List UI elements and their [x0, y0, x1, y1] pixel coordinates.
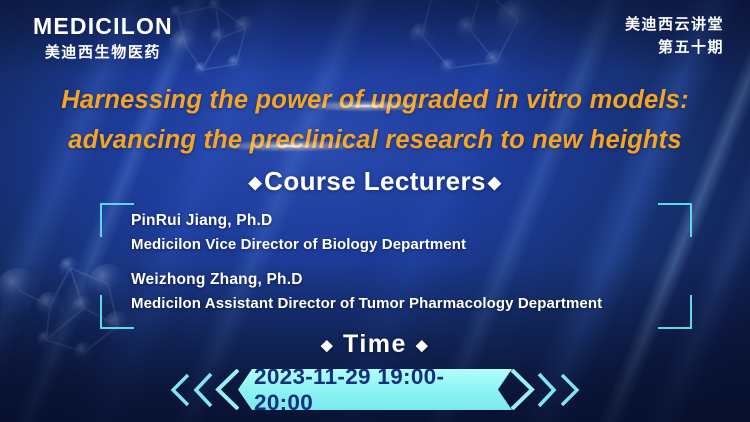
lecturer-entry: Weizhong Zhang, Ph.D Medicilon Assistant…: [131, 269, 602, 315]
chevron-left-icon: [191, 372, 214, 408]
chevron-left-icon: [168, 373, 191, 407]
molecule-icon: [392, 0, 562, 90]
schedule-ribbon: 2023-11-29 19:00-20:00: [168, 369, 582, 410]
lecturers-panel: PinRui Jiang, Ph.D Medicilon Vice Direct…: [100, 203, 692, 329]
chevron-right-icon: [536, 372, 559, 408]
section-heading-lecturers-label: Course Lecturers: [264, 166, 486, 196]
lecturer-entry: PinRui Jiang, Ph.D Medicilon Vice Direct…: [131, 210, 466, 256]
brand-logo-en: MEDICILON: [33, 14, 173, 39]
webinar-banner: MEDICILON 美迪西生物医药 美迪西云讲堂 第五十期 Harnessing…: [0, 0, 750, 422]
brand-logo-cn: 美迪西生物医药: [33, 41, 173, 62]
lecturer-name: PinRui Jiang, Ph.D: [131, 210, 466, 232]
lecturer-role: Medicilon Assistant Director of Tumor Ph…: [131, 293, 602, 315]
chevron-right-icon: [559, 373, 582, 407]
section-heading-lecturers: ◆Course Lecturers◆: [0, 166, 750, 197]
series-label: 美迪西云讲堂 第五十期: [625, 14, 724, 59]
chevron-right-group: [511, 369, 582, 410]
section-heading-time-label: Time: [343, 330, 407, 358]
diamond-icon: ◆: [249, 173, 262, 192]
chevron-right-icon: [511, 369, 536, 410]
diamond-icon: ◆: [416, 337, 429, 354]
section-heading-time: ◆Time◆: [0, 330, 750, 359]
chevron-left-group: [168, 369, 239, 410]
lecturer-name: Weizhong Zhang, Ph.D: [131, 269, 602, 291]
title-line-1: Harnessing the power of upgraded in vitr…: [0, 80, 750, 120]
chevron-left-icon: [214, 369, 239, 410]
title-line-2: advancing the preclinical research to ne…: [0, 120, 750, 160]
brand-logo: MEDICILON 美迪西生物医药: [33, 14, 173, 62]
series-episode: 第五十期: [625, 37, 724, 60]
schedule-datetime: 2023-11-29 19:00-20:00: [238, 369, 512, 410]
series-name: 美迪西云讲堂: [625, 14, 724, 37]
corner-bracket-top-right: [658, 203, 692, 237]
page-title: Harnessing the power of upgraded in vitr…: [0, 80, 750, 160]
lecturer-role: Medicilon Vice Director of Biology Depar…: [131, 234, 466, 256]
diamond-icon: ◆: [488, 173, 501, 192]
corner-bracket-top-left: [100, 203, 134, 237]
corner-bracket-bottom-right: [658, 295, 692, 329]
diamond-icon: ◆: [321, 337, 334, 354]
corner-bracket-bottom-left: [100, 295, 134, 329]
